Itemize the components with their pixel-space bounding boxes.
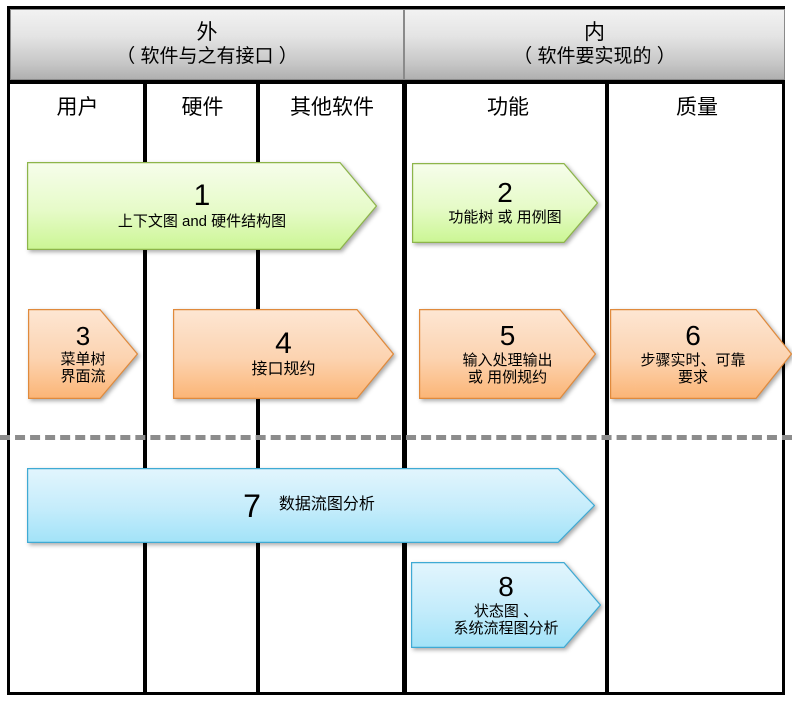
arrow-7-label: 数据流图分析 <box>275 496 379 514</box>
process-artifact-matrix-diagram: 外 （ 软件与之有接口 ） 内 （ 软件要实现的 ） 用户 硬件 其他软件 功能… <box>0 0 792 703</box>
arrow-4-label: 接口规约 <box>247 361 319 379</box>
arrow-8-number: 8 <box>498 573 514 601</box>
arrow-1-number: 1 <box>194 181 211 211</box>
column-separator-function-quality <box>605 84 609 692</box>
column-separator-external-internal <box>402 80 407 692</box>
band-internal-subtitle: （ 软件要实现的 ） <box>513 46 676 68</box>
band-internal: 内 （ 软件要实现的 ） <box>404 9 785 80</box>
artifact-arrow-2[interactable]: 2 功能树 或 用例图 <box>412 163 598 243</box>
arrow-3-label: 菜单树 界面流 <box>56 351 109 385</box>
artifact-arrow-8[interactable]: 8 状态图 、 系统流程图分析 <box>411 562 601 648</box>
artifact-arrow-6[interactable]: 6 步骤实时、可靠 要求 <box>610 309 792 399</box>
arrow-5-number: 5 <box>500 322 516 350</box>
artifact-arrow-4[interactable]: 4 接口规约 <box>173 309 394 399</box>
arrow-1-label: 上下文图 and 硬件结构图 <box>114 213 290 230</box>
band-external-subtitle: （ 软件与之有接口 ） <box>116 46 298 68</box>
arrow-2-number: 2 <box>497 179 513 207</box>
band-divider-rule <box>8 80 785 84</box>
band-internal-title: 内 <box>584 21 605 45</box>
arrow-6-label: 步骤实时、可靠 要求 <box>636 352 749 386</box>
column-header-other-software: 其他软件 <box>260 86 404 126</box>
column-header-user: 用户 <box>10 86 145 126</box>
artifact-arrow-1[interactable]: 1 上下文图 and 硬件结构图 <box>27 162 377 250</box>
column-header-function: 功能 <box>409 86 607 126</box>
artifact-arrow-5[interactable]: 5 输入处理输出 或 用例规约 <box>419 309 596 399</box>
arrow-2-label: 功能树 或 用例图 <box>444 209 565 226</box>
arrow-3-number: 3 <box>76 323 90 349</box>
artifact-arrow-7[interactable]: 7 数据流图分析 <box>27 468 595 543</box>
arrow-4-number: 4 <box>275 329 292 359</box>
band-external: 外 （ 软件与之有接口 ） <box>10 9 404 80</box>
phase-divider-dashed-line <box>0 435 792 440</box>
arrow-6-number: 6 <box>685 322 701 350</box>
column-header-quality: 质量 <box>609 86 785 126</box>
arrow-7-number: 7 <box>243 490 261 522</box>
band-external-title: 外 <box>197 21 218 45</box>
arrow-8-label: 状态图 、 系统流程图分析 <box>449 603 562 637</box>
arrow-5-label: 输入处理输出 或 用例规约 <box>458 352 556 386</box>
column-header-hardware: 硬件 <box>147 86 258 126</box>
artifact-arrow-3[interactable]: 3 菜单树 界面流 <box>28 309 138 399</box>
